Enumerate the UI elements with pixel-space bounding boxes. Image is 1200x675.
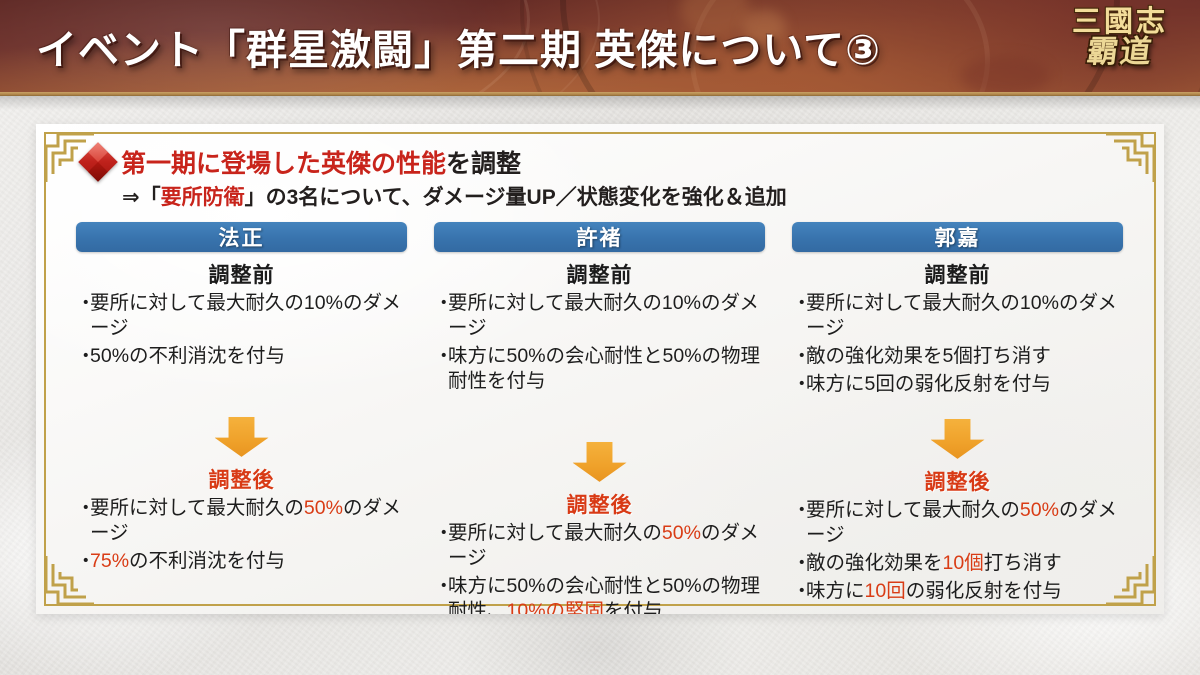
hero-columns: 法正調整前・要所に対して最大耐久の10%のダメージ・50%の不利消沈を付与調整後…	[76, 222, 1124, 614]
sub-open-bracket: 「	[140, 186, 161, 209]
bullet-text: 要所に対して最大耐久の50%のダメージ	[448, 521, 765, 571]
bullet-item: ・要所に対して最大耐久の10%のダメージ	[76, 291, 407, 341]
stage-label-before: 調整前	[434, 259, 765, 289]
bullet-list-before: ・要所に対して最大耐久の10%のダメージ・敵の強化効果を5個打ち消す・味方に5回…	[792, 291, 1123, 397]
bullet-list-after: ・要所に対して最大耐久の50%のダメージ・75%の不利消沈を付与	[76, 496, 407, 574]
bullet-emphasis: 10回	[865, 580, 906, 602]
bullet-plain: 味方に	[806, 580, 865, 602]
down-arrow-icon	[573, 442, 627, 482]
bullet-dot: ・	[792, 498, 806, 548]
page-title: イベント「群星激闘」第二期 英傑について③	[36, 16, 881, 76]
ornament-corner-top-right	[1104, 128, 1160, 184]
bullet-emphasis: 10%の堅固	[507, 600, 605, 614]
bullet-text: 75%の不利消沈を付与	[90, 549, 407, 574]
arrow-container	[434, 442, 765, 482]
hero-column-1: 法正調整前・要所に対して最大耐久の10%のダメージ・50%の不利消沈を付与調整後…	[76, 222, 407, 614]
hero-name-chip[interactable]: 法正	[76, 222, 407, 252]
bullet-plain: を付与	[604, 600, 663, 614]
lead-bullet-text: 第一期に登場した英傑の性能を調整	[121, 144, 521, 180]
bullet-dot: ・	[76, 291, 90, 341]
column-spacer	[434, 397, 765, 433]
hero-column-3: 郭嘉調整前・要所に対して最大耐久の10%のダメージ・敵の強化効果を5個打ち消す・…	[792, 222, 1123, 614]
sub-close-bracket: 」	[245, 186, 266, 209]
bullet-plain: 味方に50%の会心耐性と50%の物理耐性を付与	[448, 345, 760, 392]
bullet-plain: 味方に5回の弱化反射を付与	[806, 373, 1051, 395]
slide-root: イベント「群星激闘」第二期 英傑について③ 三國志 霸道	[0, 0, 1200, 675]
bullet-emphasis: 50%	[1020, 499, 1059, 521]
bullet-plain: 要所に対して最大耐久の	[806, 499, 1020, 521]
arrow-container	[76, 417, 407, 457]
sub-boxed-term: 要所防衛	[161, 186, 245, 209]
down-arrow-icon	[931, 419, 985, 459]
bullet-plain: 打ち消す	[984, 552, 1062, 574]
bullet-item: ・要所に対して最大耐久の10%のダメージ	[434, 291, 765, 341]
bullet-dot: ・	[76, 344, 90, 369]
bullet-text: 50%の不利消沈を付与	[90, 344, 407, 369]
bullet-dot: ・	[792, 551, 806, 576]
bullet-dot: ・	[792, 579, 806, 604]
stage-label-after: 調整後	[76, 464, 407, 494]
bullet-emphasis: 75%	[90, 550, 129, 572]
red-diamond-icon	[78, 142, 118, 182]
bullet-plain: の不利消沈を付与	[129, 550, 285, 572]
bullet-list-before: ・要所に対して最大耐久の10%のダメージ・味方に50%の会心耐性と50%の物理耐…	[434, 291, 765, 394]
hero-column-2: 許褚調整前・要所に対して最大耐久の10%のダメージ・味方に50%の会心耐性と50…	[434, 222, 765, 614]
bullet-plain: 50%の不利消沈を付与	[90, 345, 285, 367]
bullet-text: 要所に対して最大耐久の10%のダメージ	[448, 291, 765, 341]
bullet-plain: 要所に対して最大耐久の	[90, 497, 304, 519]
bullet-plain: 敵の強化効果を	[806, 552, 943, 574]
sub-arrow-glyph: ⇒	[122, 186, 140, 209]
bullet-item: ・要所に対して最大耐久の50%のダメージ	[76, 496, 407, 546]
bullet-item: ・味方に50%の会心耐性と50%の物理耐性を付与	[434, 344, 765, 394]
bullet-item: ・要所に対して最大耐久の50%のダメージ	[434, 521, 765, 571]
bullet-plain: 要所に対して最大耐久の	[448, 522, 662, 544]
content-panel: 第一期に登場した英傑の性能を調整 ⇒「要所防衛」の3名について、ダメージ量UP／…	[36, 124, 1164, 614]
stage-label-before: 調整前	[792, 259, 1123, 289]
bullet-text: 要所に対して最大耐久の50%のダメージ	[806, 498, 1123, 548]
bullet-item: ・要所に対して最大耐久の50%のダメージ	[792, 498, 1123, 548]
bullet-dot: ・	[434, 291, 448, 341]
lead-bullet-rest: を調整	[446, 150, 521, 178]
bullet-text: 味方に50%の会心耐性と50%の物理耐性を付与	[448, 344, 765, 394]
bullet-text: 要所に対して最大耐久の10%のダメージ	[90, 291, 407, 341]
bullet-emphasis: 50%	[304, 497, 343, 519]
bullet-plain: 要所に対して最大耐久の10%	[90, 292, 343, 314]
bullet-item: ・味方に10回の弱化反射を付与	[792, 579, 1123, 604]
bullet-item: ・敵の強化効果を5個打ち消す	[792, 344, 1123, 369]
bullet-plain: の弱化反射を付与	[906, 580, 1062, 602]
banner-bottom-rule	[0, 92, 1200, 96]
bullet-text: 味方に50%の会心耐性と50%の物理耐性、10%の堅固を付与	[448, 574, 765, 614]
bullet-dot: ・	[434, 574, 448, 614]
arrow-container	[792, 419, 1123, 459]
bullet-list-before: ・要所に対して最大耐久の10%のダメージ・50%の不利消沈を付与	[76, 291, 407, 369]
bullet-plain: 要所に対して最大耐久の10%	[448, 292, 701, 314]
bullet-emphasis: 50%	[662, 522, 701, 544]
column-spacer	[792, 400, 1123, 410]
bullet-text: 要所に対して最大耐久の50%のダメージ	[90, 496, 407, 546]
sub-bullet-text: ⇒「要所防衛」の3名について、ダメージ量UP／状態変化を強化＆追加	[122, 181, 787, 211]
bullet-text: 敵の強化効果を5個打ち消す	[806, 344, 1123, 369]
bullet-item: ・味方に5回の弱化反射を付与	[792, 372, 1123, 397]
hero-name-chip[interactable]: 郭嘉	[792, 222, 1123, 252]
lead-bullet-row: 第一期に登場した英傑の性能を調整	[84, 144, 521, 180]
hero-name-label: 法正	[219, 222, 265, 252]
bullet-dot: ・	[434, 521, 448, 571]
down-arrow-icon	[215, 417, 269, 457]
bullet-item: ・要所に対して最大耐久の10%のダメージ	[792, 291, 1123, 341]
bullet-dot: ・	[792, 344, 806, 369]
bullet-dot: ・	[76, 549, 90, 574]
bullet-list-after: ・要所に対して最大耐久の50%のダメージ・敵の強化効果を10個打ち消す・味方に1…	[792, 498, 1123, 604]
bullet-emphasis: 10個	[943, 552, 984, 574]
bullet-dot: ・	[792, 372, 806, 397]
stage-label-before: 調整前	[76, 259, 407, 289]
bullet-item: ・50%の不利消沈を付与	[76, 344, 407, 369]
bullet-text: 味方に5回の弱化反射を付与	[806, 372, 1123, 397]
bullet-text: 敵の強化効果を10個打ち消す	[806, 551, 1123, 576]
bullet-item: ・味方に50%の会心耐性と50%の物理耐性、10%の堅固を付与	[434, 574, 765, 614]
hero-name-label: 許褚	[577, 222, 623, 252]
lead-bullet-highlight: 第一期に登場した英傑の性能	[121, 150, 446, 178]
bullet-dot: ・	[434, 344, 448, 394]
bullet-plain: 敵の強化効果を5個打ち消す	[806, 345, 1051, 367]
sub-rest-text: の3名について、ダメージ量UP／状態変化を強化＆追加	[266, 186, 787, 209]
hero-name-chip[interactable]: 許褚	[434, 222, 765, 252]
stage-label-after: 調整後	[792, 466, 1123, 496]
bullet-dot: ・	[76, 496, 90, 546]
bullet-item: ・敵の強化効果を10個打ち消す	[792, 551, 1123, 576]
banner-drop-shadow	[0, 96, 1200, 110]
hero-name-label: 郭嘉	[935, 222, 981, 252]
bullet-plain: 要所に対して最大耐久の10%	[806, 292, 1059, 314]
stage-label-after: 調整後	[434, 489, 765, 519]
banner-blot-decoration	[960, 56, 1050, 92]
column-spacer	[76, 372, 407, 408]
bullet-dot: ・	[792, 291, 806, 341]
bullet-list-after: ・要所に対して最大耐久の50%のダメージ・味方に50%の会心耐性と50%の物理耐…	[434, 521, 765, 614]
bullet-text: 味方に10回の弱化反射を付与	[806, 579, 1123, 604]
bullet-text: 要所に対して最大耐久の10%のダメージ	[806, 291, 1123, 341]
bullet-item: ・75%の不利消沈を付与	[76, 549, 407, 574]
